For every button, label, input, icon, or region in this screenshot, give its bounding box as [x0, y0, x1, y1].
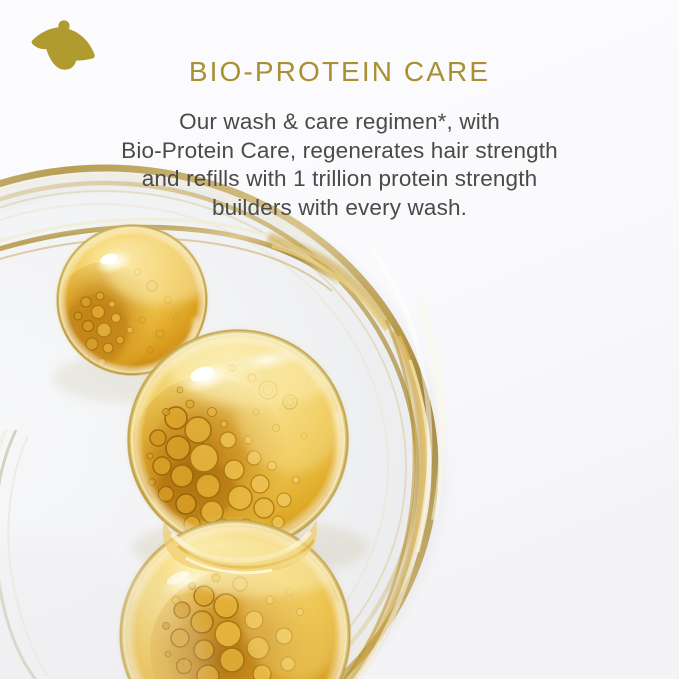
- dove-bird-logo: [29, 20, 101, 72]
- golden-serum-droplets-photo: [0, 0, 679, 679]
- droplet-center: [127, 329, 349, 552]
- product-benefit-banner: BIO-PROTEIN CARE Our wash & care regimen…: [0, 0, 679, 679]
